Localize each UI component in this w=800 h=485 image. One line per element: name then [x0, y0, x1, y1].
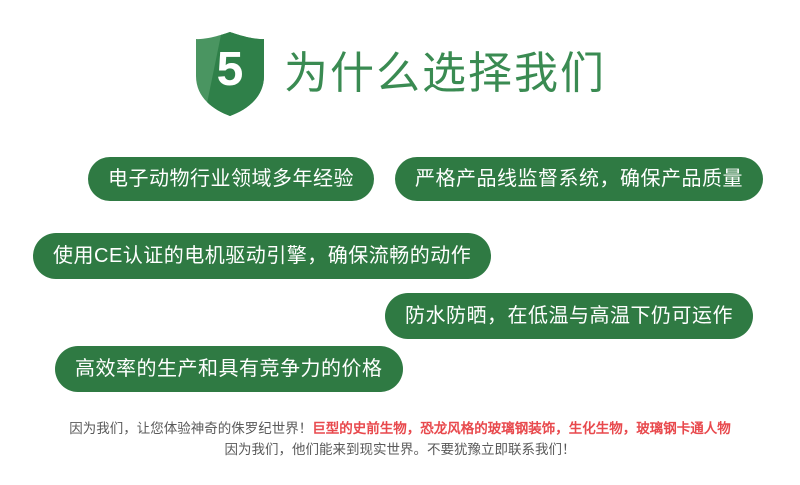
- feature-pill-weatherproof[interactable]: 防水防晒，在低温与高温下仍可运作: [385, 293, 753, 339]
- shield-icon: 5: [194, 30, 266, 118]
- footer-line-2: 因为我们，他们能来到现实世界。不要犹豫立即联系我们！: [0, 439, 800, 460]
- footer-line-1-prefix: 因为我们，让您体验神奇的侏罗纪世界！: [69, 421, 312, 436]
- feature-pill-price[interactable]: 高效率的生产和具有竞争力的价格: [55, 346, 403, 392]
- footer-line-1-highlight: 巨型的史前生物，恐龙风格的玻璃钢装饰，生化生物，玻璃钢卡通人物: [312, 421, 731, 436]
- feature-pill-quality[interactable]: 严格产品线监督系统，确保产品质量: [395, 157, 763, 201]
- feature-pill-experience[interactable]: 电子动物行业领域多年经验: [88, 157, 374, 201]
- promo-page: 5 为什么选择我们 电子动物行业领域多年经验 严格产品线监督系统，确保产品质量 …: [0, 0, 800, 485]
- page-title: 为什么选择我们: [284, 52, 606, 96]
- page-header: 5 为什么选择我们: [0, 24, 800, 124]
- feature-pill-ce-motor[interactable]: 使用CE认证的电机驱动引擎，确保流畅的动作: [33, 233, 491, 279]
- shield-number: 5: [194, 30, 266, 118]
- footer-text: 因为我们，让您体验神奇的侏罗纪世界！巨型的史前生物，恐龙风格的玻璃钢装饰，生化生…: [0, 418, 800, 460]
- footer-line-1: 因为我们，让您体验神奇的侏罗纪世界！巨型的史前生物，恐龙风格的玻璃钢装饰，生化生…: [0, 418, 800, 439]
